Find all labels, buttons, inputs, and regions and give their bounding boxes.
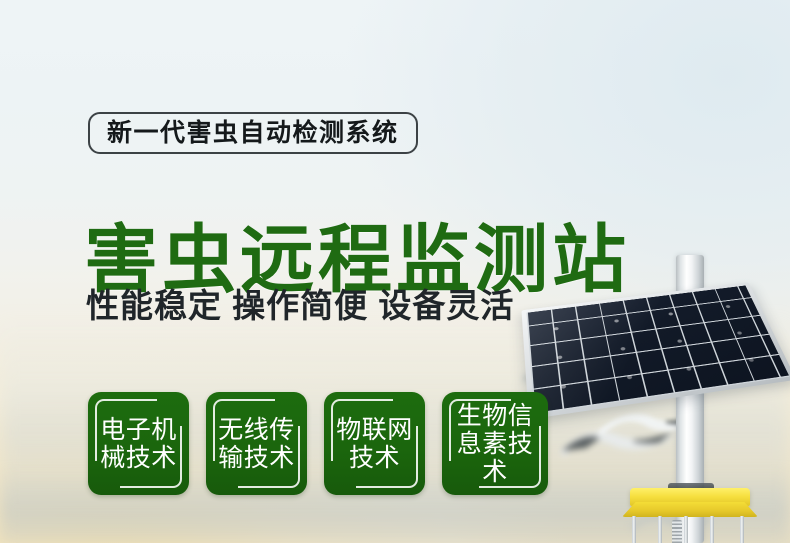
product-banner: 新一代害虫自动检测系统 害虫远程监测站 性能稳定 操作简便 设备灵活 电子机械技… bbox=[0, 0, 790, 543]
feature-tag-label: 生物信息素技术 bbox=[446, 402, 544, 486]
feature-tag-label: 物联网技术 bbox=[329, 416, 421, 472]
trap-rod bbox=[710, 516, 714, 543]
yellow-trap-housing bbox=[622, 488, 758, 518]
trap-rod bbox=[658, 516, 662, 543]
trap-rod-assembly bbox=[628, 516, 752, 543]
tagline-badge: 新一代害虫自动检测系统 bbox=[88, 112, 418, 154]
solar-panel-frame bbox=[521, 282, 790, 419]
feature-tag-list: 电子机械技术 无线传输技术 物联网技术 生物信息素技术 bbox=[88, 392, 548, 495]
feature-tag-label: 无线传输技术 bbox=[211, 416, 303, 472]
tagline-badge-text: 新一代害虫自动检测系统 bbox=[107, 121, 399, 146]
solar-panel-icon bbox=[521, 282, 790, 419]
page-subtitle: 性能稳定 操作简便 设备灵活 bbox=[86, 286, 514, 326]
trap-coil bbox=[672, 520, 682, 543]
feature-tag-wireless[interactable]: 无线传输技术 bbox=[206, 392, 307, 495]
feature-tag-electromechanical[interactable]: 电子机械技术 bbox=[88, 392, 189, 495]
feature-tag-label: 电子机械技术 bbox=[93, 416, 185, 472]
trap-rod bbox=[740, 516, 744, 543]
trap-rod bbox=[684, 516, 688, 543]
trap-skirt bbox=[622, 502, 758, 517]
feature-tag-pheromone[interactable]: 生物信息素技术 bbox=[442, 392, 548, 495]
feature-tag-iot[interactable]: 物联网技术 bbox=[324, 392, 425, 495]
solar-panel-cells bbox=[526, 285, 789, 414]
trap-rod bbox=[632, 516, 636, 543]
